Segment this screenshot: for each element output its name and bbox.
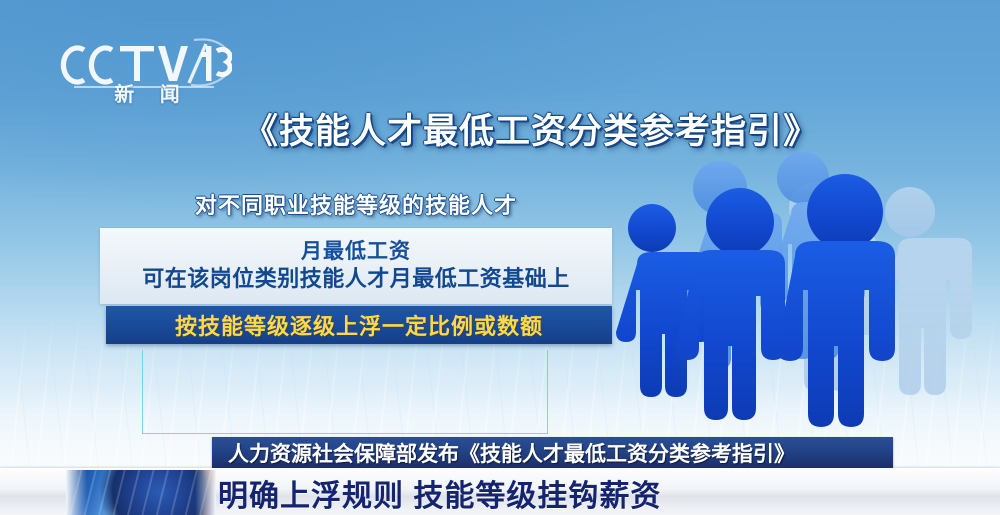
highlight-bar-text: 按技能等级逐级上浮一定比例或数额	[175, 309, 543, 341]
infographic-lead-text: 对不同职业技能等级的技能人才	[100, 188, 612, 220]
connector-bracket	[142, 350, 548, 434]
white-box-line-2: 可在该岗位类别技能人才月最低工资基础上	[142, 266, 570, 292]
people-group-icon	[600, 150, 1000, 450]
kicker-text: 人力资源社会保障部发布《技能人才最低工资分类参考指引》	[212, 438, 795, 468]
white-box-line-1: 月最低工资	[301, 240, 411, 263]
infographic-white-box: 月最低工资 可在该岗位类别技能人才月最低工资基础上	[100, 228, 612, 304]
globe-edge-fade	[66, 470, 216, 515]
cctv13-logo: 新 闻	[56, 34, 232, 104]
headline-text: 明确上浮规则 技能等级挂钩薪资	[218, 471, 661, 515]
page-title: 《技能人才最低工资分类参考指引》	[0, 103, 1000, 154]
broadcast-screenshot: 新 闻 《技能人才最低工资分类参考指引》 对不同职业技能等级的技能人才 月最低工…	[0, 0, 1000, 515]
page-title-text: 《技能人才最低工资分类参考指引》	[243, 103, 819, 154]
lower-third-kicker: 人力资源社会保障部发布《技能人才最低工资分类参考指引》	[212, 437, 893, 468]
infographic-highlight-bar: 按技能等级逐级上浮一定比例或数额	[106, 306, 612, 344]
